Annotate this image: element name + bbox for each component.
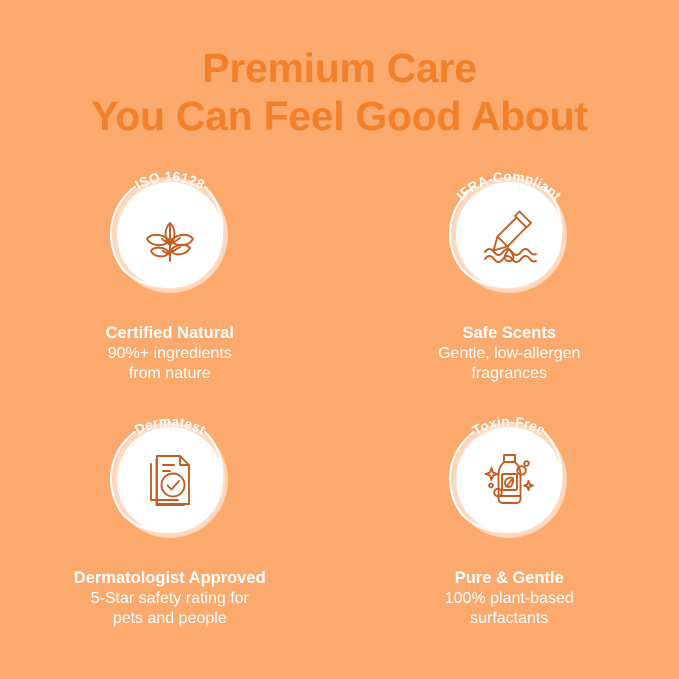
arc-label-text: Toxin-Free [470,414,548,438]
arc-label-text: IFRA-Compliant [454,169,565,204]
caption-subline-2: fragrances [359,364,659,384]
svg-text:ISO 16128: ISO 16128 [132,169,207,193]
caption-subline-2: from nature [20,364,320,384]
badge-card-iso: ISO 16128 Certified Natura [0,160,340,405]
caption-subline-1: Gentle, low-allergen [359,344,659,364]
arc-label-text: Dermatest [132,414,208,438]
arc-label-text: ISO 16128 [132,169,207,193]
caption-title: Safe Scents [359,323,659,344]
badge-arc-text-toxin-free: Toxin-Free [434,405,584,555]
badge-arc-text-dermatest: Dermatest [95,405,245,555]
caption-subline-1: 5-Star safety rating for [20,589,320,609]
caption-title: Pure & Gentle [359,568,659,589]
caption-subline-1: 100% plant-based [359,589,659,609]
svg-text:Dermatest: Dermatest [132,414,208,438]
badge-arc-text-ifra: IFRA-Compliant [434,160,584,310]
caption-title: Dermatologist Approved [20,568,320,589]
badge-arc-text-iso: ISO 16128 [95,160,245,310]
promo-graphic-root: { "theme": { "background": "#FBA96C", "h… [0,0,679,679]
badge-card-ifra: IFRA-Compliant Safe Scents Gentle, low-a… [340,160,679,405]
title-line-1: Premium Care [0,44,679,92]
caption-subline-2: surfactants [359,609,659,629]
trust-badge-grid: ISO 16128 Certified Natura [0,160,679,650]
svg-text:IFRA-Compliant: IFRA-Compliant [454,169,565,204]
badge-caption-toxin-free: Pure & Gentle 100% plant-based surfactan… [359,568,659,629]
badge-medallion-iso: ISO 16128 [95,160,245,310]
badge-medallion-dermatest: Dermatest [95,405,245,555]
caption-subline-2: pets and people [20,609,320,629]
badge-card-toxin-free: Toxin-Free [340,405,679,650]
svg-text:Toxin-Free: Toxin-Free [470,414,548,438]
badge-card-dermatest: Dermatest Dermatologist Approved 5-Star … [0,405,340,650]
badge-medallion-toxin-free: Toxin-Free [434,405,584,555]
badge-medallion-ifra: IFRA-Compliant [434,160,584,310]
title-line-2: You Can Feel Good About [0,92,679,140]
badge-caption-dermatest: Dermatologist Approved 5-Star safety rat… [20,568,320,629]
badge-caption-ifra: Safe Scents Gentle, low-allergen fragran… [359,323,659,384]
caption-title: Certified Natural [20,323,320,344]
badge-caption-iso: Certified Natural 90%+ ingredients from … [20,323,320,384]
page-title: Premium Care You Can Feel Good About [0,44,679,140]
caption-subline-1: 90%+ ingredients [20,344,320,364]
